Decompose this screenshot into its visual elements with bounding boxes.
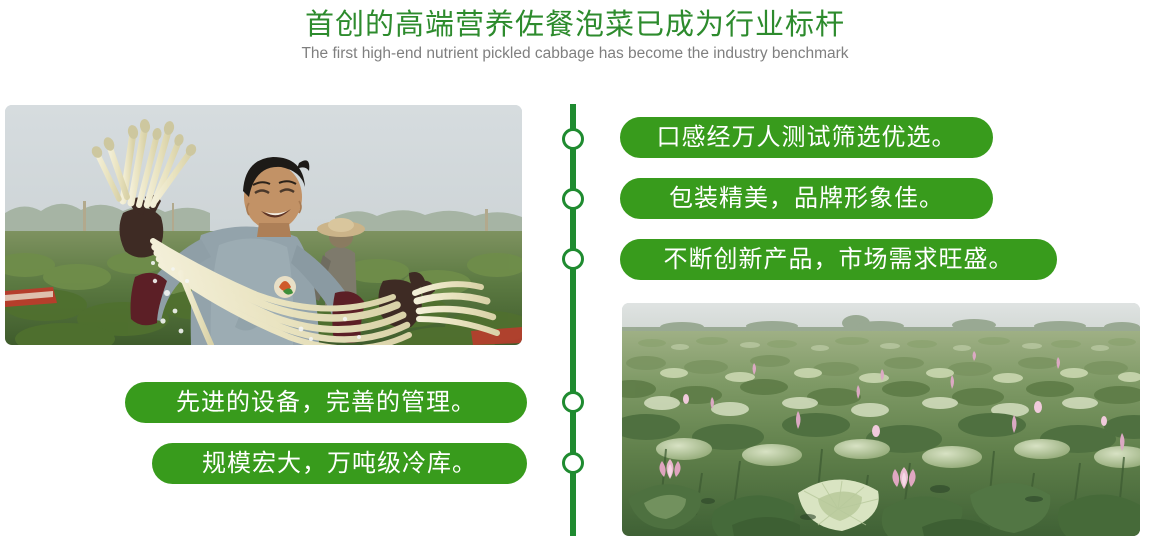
feature-pill-label: 先进的设备，完善的管理。	[176, 391, 476, 415]
feature-pill-right-3[interactable]: 不断创新产品，市场需求旺盛。	[620, 239, 1057, 280]
page-header: 首创的高端营养佐餐泡菜已成为行业标杆 The first high-end nu…	[0, 0, 1150, 92]
timeline-node-3[interactable]	[562, 248, 584, 270]
feature-pill-right-2[interactable]: 包装精美，品牌形象佳。	[620, 178, 993, 219]
feature-pill-right-1[interactable]: 口感经万人测试筛选优选。	[620, 117, 993, 158]
feature-pill-left-1[interactable]: 先进的设备，完善的管理。	[125, 382, 527, 423]
photo-farmer-harvesting-lotus-root	[5, 105, 522, 345]
feature-pill-label: 规模宏大，万吨级冷库。	[202, 452, 477, 476]
feature-pill-label: 口感经万人测试筛选优选。	[657, 126, 957, 150]
feature-pill-label: 不断创新产品，市场需求旺盛。	[664, 248, 1014, 272]
timeline-node-5[interactable]	[562, 452, 584, 474]
photo-lotus-plantation-field	[622, 303, 1140, 536]
feature-pill-label: 包装精美，品牌形象佳。	[669, 187, 944, 211]
timeline-node-2[interactable]	[562, 188, 584, 210]
feature-highlights-page: 首创的高端营养佐餐泡菜已成为行业标杆 The first high-end nu…	[0, 0, 1150, 536]
timeline-node-4[interactable]	[562, 391, 584, 413]
page-title: 首创的高端营养佐餐泡菜已成为行业标杆	[0, 8, 1150, 42]
timeline-node-1[interactable]	[562, 128, 584, 150]
page-subtitle: The first high-end nutrient pickled cabb…	[0, 44, 1150, 64]
feature-pill-left-2[interactable]: 规模宏大，万吨级冷库。	[152, 443, 527, 484]
vertical-timeline	[545, 104, 601, 536]
